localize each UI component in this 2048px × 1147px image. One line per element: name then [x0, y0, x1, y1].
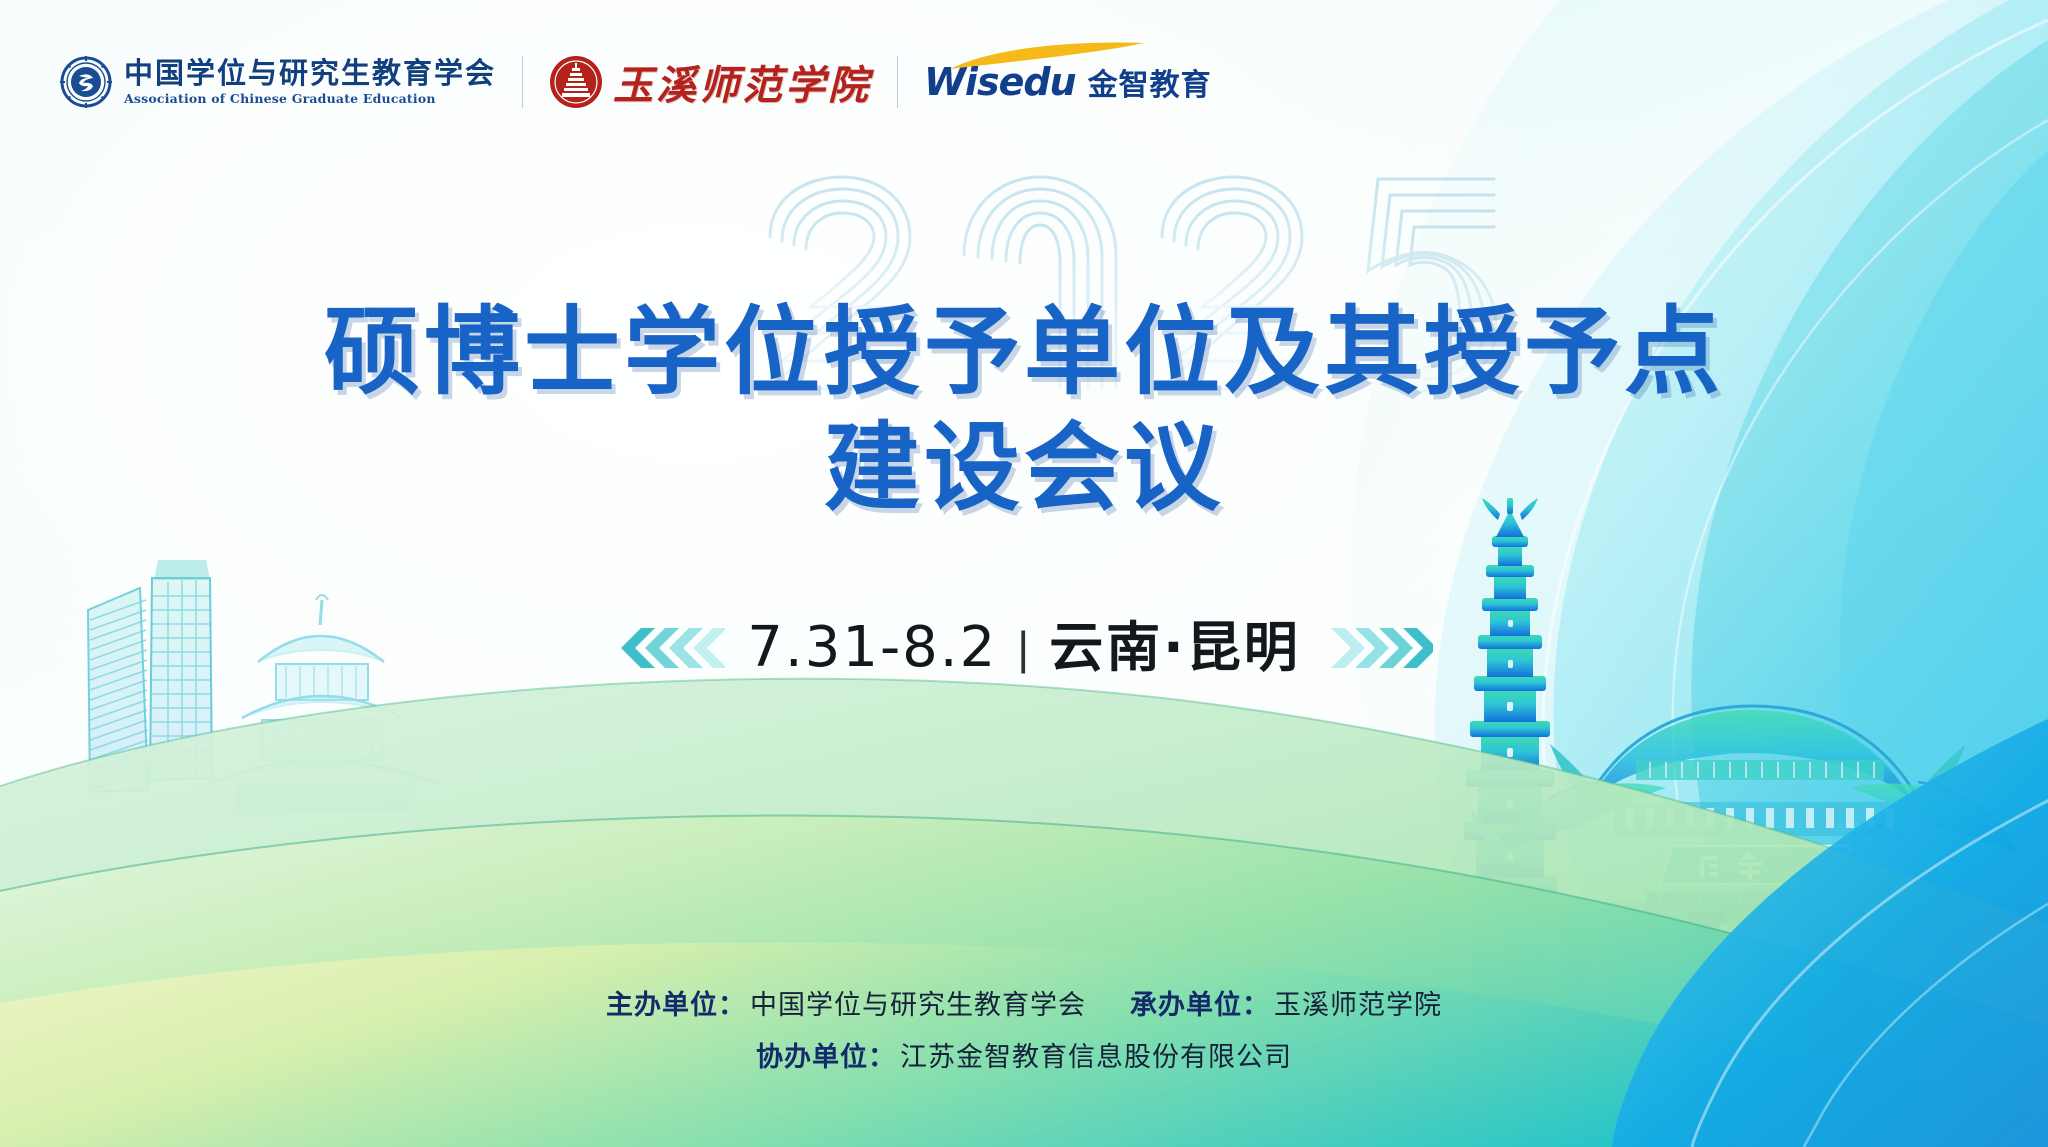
coorganizer-label: 协办单位：	[756, 1032, 896, 1083]
logo-divider-1	[522, 56, 523, 108]
chevron-right-decoration	[1323, 624, 1433, 672]
event-date: 7.31-8.2	[747, 620, 997, 676]
background-artwork	[0, 0, 2048, 1147]
organizer-coorganizer: 协办单位： 江苏金智教育信息股份有限公司	[756, 1032, 1292, 1083]
event-location: 云南·昆明	[1049, 621, 1301, 675]
acge-seal-icon	[60, 56, 112, 108]
event-meta: 7.31-8.2 | 云南·昆明	[0, 620, 2048, 676]
yxnu-seal-icon	[549, 55, 603, 109]
meta-separator: |	[1017, 625, 1029, 671]
organizer-credits: 主办单位： 中国学位与研究生教育学会 承办单位： 玉溪师范学院 协办单位： 江苏…	[0, 980, 2048, 1083]
coorganizer-value: 江苏金智教育信息股份有限公司	[900, 1032, 1292, 1083]
organizer-row-2: 协办单位： 江苏金智教育信息股份有限公司	[0, 1032, 2048, 1083]
organizer-organizer: 承办单位： 玉溪师范学院	[1130, 980, 1442, 1031]
acge-name-en: Association of Chinese Graduate Educatio…	[124, 92, 496, 106]
wisedu-swoosh-icon	[948, 41, 1148, 71]
chevron-left-decoration	[615, 624, 725, 672]
title-line-1: 硕博士学位授予单位及其授予点	[0, 296, 2048, 408]
conference-banner: 中国学位与研究生教育学会 Association of Chinese Grad…	[0, 0, 2048, 1147]
partner-logo-bar: 中国学位与研究生教育学会 Association of Chinese Grad…	[60, 46, 1212, 118]
organizer-host: 主办单位： 中国学位与研究生教育学会	[606, 980, 1086, 1031]
organizer-row-1: 主办单位： 中国学位与研究生教育学会 承办单位： 玉溪师范学院	[0, 980, 2048, 1031]
acge-name-cn: 中国学位与研究生教育学会	[124, 58, 496, 88]
organizer-label: 承办单位：	[1130, 980, 1270, 1031]
logo-acge[interactable]: 中国学位与研究生教育学会 Association of Chinese Grad…	[60, 56, 496, 108]
yxnu-name-cn: 玉溪师范学院	[613, 53, 871, 111]
host-value: 中国学位与研究生教育学会	[750, 980, 1086, 1031]
wisedu-name-cn: 金智教育	[1088, 71, 1212, 101]
host-label: 主办单位：	[606, 980, 746, 1031]
logo-yuxi-normal-university[interactable]: 玉溪师范学院	[549, 53, 871, 111]
logo-divider-2	[897, 56, 898, 108]
organizer-value: 玉溪师范学院	[1274, 980, 1442, 1031]
logo-wisedu[interactable]: Wisedu 金智教育	[924, 63, 1212, 101]
title-line-2: 建设会议	[0, 412, 2048, 524]
page-title: 硕博士学位授予单位及其授予点 建设会议	[0, 296, 2048, 525]
